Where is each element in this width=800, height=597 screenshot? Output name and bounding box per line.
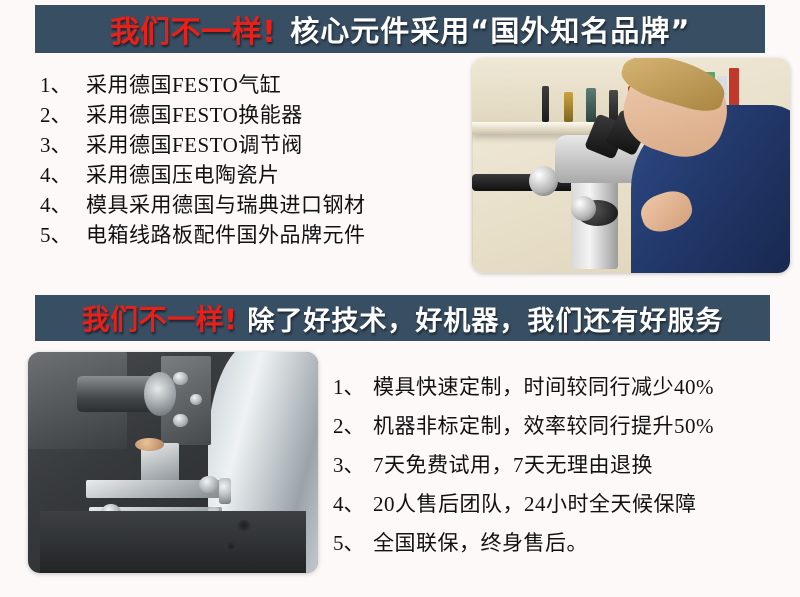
list-item-text: 采用德国FESTO气缸 — [86, 70, 281, 100]
list-item-number: 1、 — [333, 368, 373, 407]
list-item: 2、 采用德国FESTO换能器 — [40, 100, 460, 130]
list-item-number: 4、 — [40, 190, 86, 220]
list-item-number: 2、 — [40, 100, 86, 130]
section2-banner: 我们不一样! 除了好技术，好机器，我们还有好服务 — [35, 295, 770, 341]
machine-screw — [173, 372, 188, 385]
list-item-number: 3、 — [333, 446, 373, 485]
list-item-number: 4、 — [40, 160, 86, 190]
list-item-text: 采用德国FESTO换能器 — [86, 100, 303, 130]
shelf-tool — [586, 88, 596, 122]
section2-photo-machine-closeup — [28, 352, 318, 573]
list-item-text: 模具快速定制，时间较同行减少40% — [373, 368, 714, 407]
list-item: 5、 电箱线路板配件国外品牌元件 — [40, 220, 460, 250]
section2-banner-text: 除了好技术，好机器，我们还有好服务 — [247, 299, 723, 338]
promo-page: 我们不一样! 核心元件采用“国外知名品牌” 1、 采用德国FESTO气缸 2、 … — [0, 0, 800, 597]
list-item: 1、 采用德国FESTO气缸 — [40, 70, 460, 100]
section1-photo-microscope-inspection — [472, 58, 790, 273]
section2-service-list: 1、 模具快速定制，时间较同行减少40% 2、 机器非标定制，效率较同行提升50… — [333, 368, 793, 563]
list-item: 5、 全国联保，终身售后。 — [333, 524, 793, 563]
section1-banner-text: 核心元件采用“国外知名品牌” — [290, 8, 690, 50]
machine-screw — [190, 394, 202, 405]
list-item: 4、 20人售后团队，24小时全天候保障 — [333, 485, 793, 524]
list-item-text: 模具采用德国与瑞典进口钢材 — [86, 190, 366, 220]
shelf-tool — [542, 86, 549, 122]
list-item-text: 20人售后团队，24小时全天候保障 — [373, 485, 697, 524]
list-item-text: 机器非标定制，效率较同行提升50% — [373, 407, 714, 446]
list-item: 4、 模具采用德国与瑞典进口钢材 — [40, 190, 460, 220]
list-item-text: 采用德国FESTO调节阀 — [86, 130, 303, 160]
list-item: 4、 采用德国压电陶瓷片 — [40, 160, 460, 190]
list-item-text: 采用德国压电陶瓷片 — [86, 160, 280, 190]
machine-flange — [144, 372, 176, 416]
machine-screw — [173, 414, 188, 427]
list-item-number: 5、 — [40, 220, 86, 250]
microscope-knob — [529, 166, 558, 196]
list-item-number: 4、 — [333, 485, 373, 524]
lab-scene — [472, 58, 790, 273]
machine-base — [40, 511, 307, 573]
section1-banner-highlight: 我们不一样! — [110, 7, 277, 51]
list-item-text: 7天免费试用，7天无理由退换 — [373, 446, 653, 485]
section1-banner: 我们不一样! 核心元件采用“国外知名品牌” — [35, 5, 765, 53]
list-item-text: 全国联保，终身售后。 — [373, 524, 588, 563]
list-item: 2、 机器非标定制，效率较同行提升50% — [333, 407, 793, 446]
shelf-tool — [564, 92, 573, 122]
list-item-number: 3、 — [40, 130, 86, 160]
list-item: 3、 采用德国FESTO调节阀 — [40, 130, 460, 160]
list-item-text: 电箱线路板配件国外品牌元件 — [86, 220, 366, 250]
section2-banner-highlight: 我们不一样! — [82, 298, 238, 338]
machine-scene — [28, 352, 318, 573]
list-item: 1、 模具快速定制，时间较同行减少40% — [333, 368, 793, 407]
microscope-focus-knob — [571, 196, 596, 222]
machine-bolt-hole — [225, 542, 237, 551]
section1-feature-list: 1、 采用德国FESTO气缸 2、 采用德国FESTO换能器 3、 采用德国FE… — [40, 70, 460, 250]
list-item-number: 2、 — [333, 407, 373, 446]
list-item: 3、 7天免费试用，7天无理由退换 — [333, 446, 793, 485]
list-item-number: 5、 — [333, 524, 373, 563]
machine-post — [219, 478, 231, 505]
list-item-number: 1、 — [40, 70, 86, 100]
